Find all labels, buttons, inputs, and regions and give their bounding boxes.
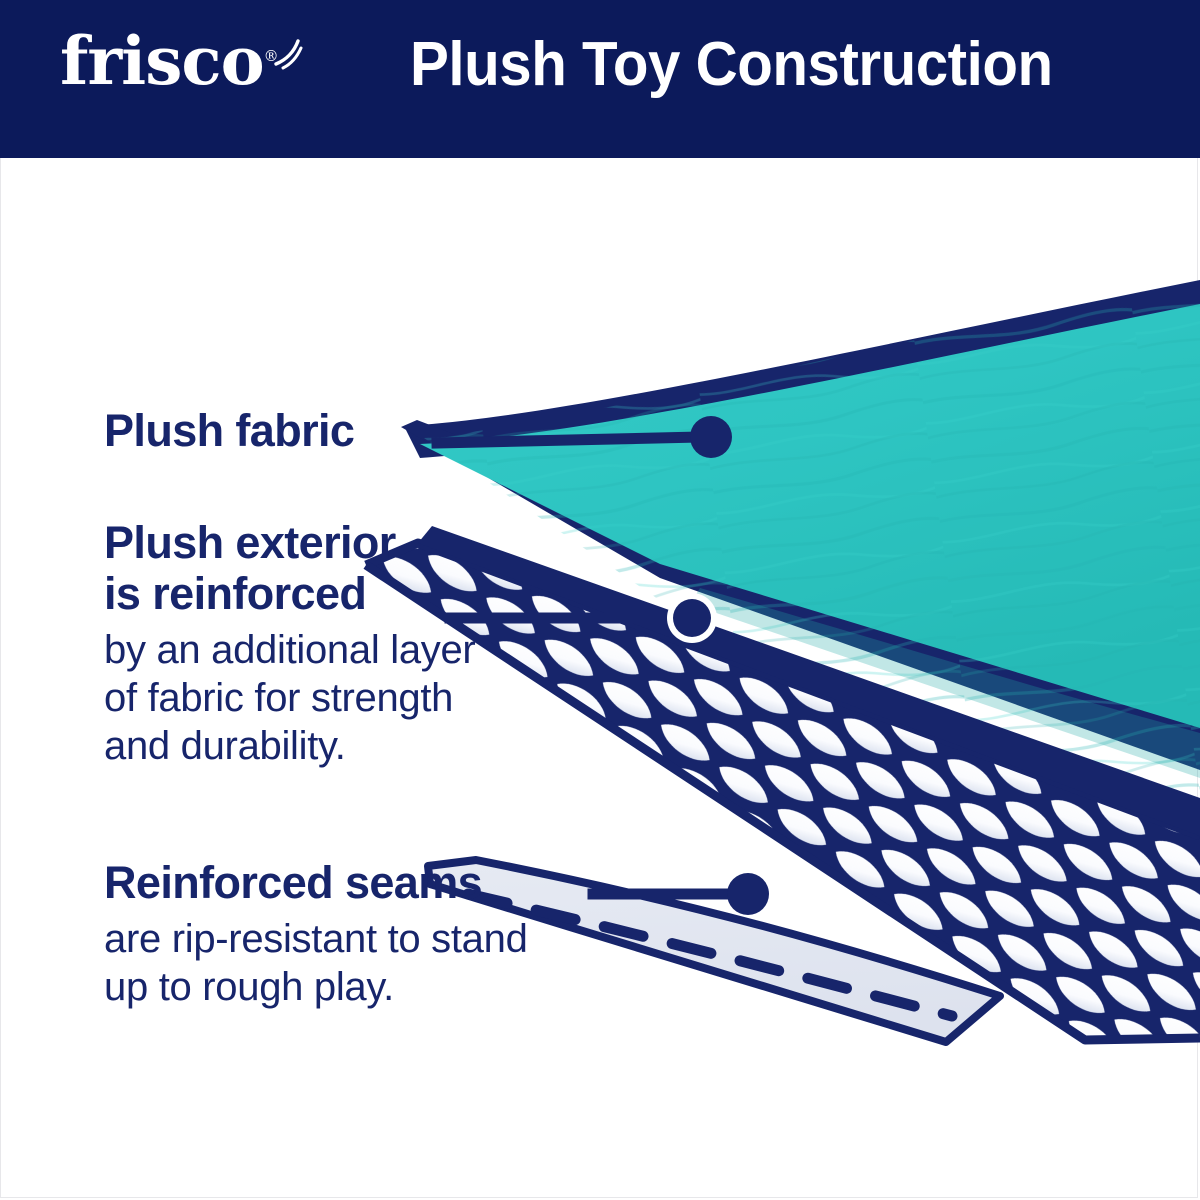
callout-reinforced-seams-heading: Reinforced seams: [104, 858, 528, 909]
callout-plush-exterior-body: by an additional layer of fabric for str…: [104, 626, 475, 770]
logo-swoosh-icon: [272, 38, 306, 72]
leader-line-plush-fabric: [437, 437, 700, 443]
leader-dot-plush-fabric: [690, 416, 732, 458]
infographic-root: frisco® Plush Toy Construction: [0, 0, 1200, 1200]
page-title: Plush Toy Construction: [410, 34, 1053, 96]
header-bar: frisco® Plush Toy Construction: [0, 0, 1200, 158]
callout-plush-exterior: Plush exterior is reinforced by an addit…: [104, 518, 475, 770]
leader-dot-plush-exterior: [673, 599, 711, 637]
callout-plush-fabric: Plush fabric: [104, 406, 354, 457]
leader-dot-reinforced-seams: [727, 873, 769, 915]
callout-plush-fabric-heading: Plush fabric: [104, 406, 354, 457]
callout-reinforced-seams-body: are rip-resistant to stand up to rough p…: [104, 915, 528, 1011]
frisco-logo-wordmark: frisco: [60, 22, 264, 100]
callout-plush-exterior-heading: Plush exterior is reinforced: [104, 518, 475, 620]
callout-reinforced-seams: Reinforced seams are rip-resistant to st…: [104, 858, 528, 1011]
frisco-logo: frisco®: [60, 28, 278, 94]
